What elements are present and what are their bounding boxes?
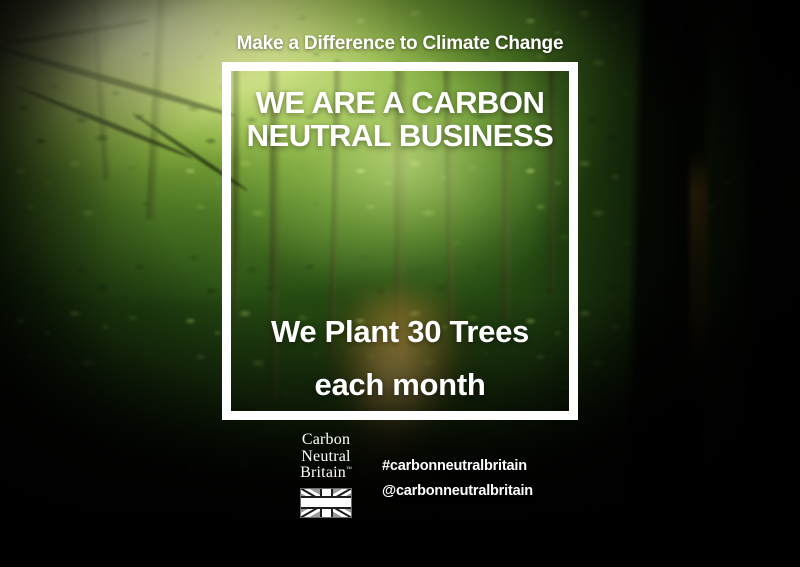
headline-line-1: WE ARE A CARBON xyxy=(222,86,578,119)
logo-word-carbon: Carbon xyxy=(288,432,364,449)
pledge-line-2: each month xyxy=(222,358,578,411)
logo-word-britain: Britain xyxy=(300,464,346,481)
poster: Make a Difference to Climate Change WE A… xyxy=(0,0,800,567)
tagline: Make a Difference to Climate Change xyxy=(0,33,800,55)
social-handles: #carbonneutralbritain @carbonneutralbrit… xyxy=(382,432,533,504)
headline: WE ARE A CARBON NEUTRAL BUSINESS xyxy=(222,86,578,153)
headline-line-2: NEUTRAL BUSINESS xyxy=(222,119,578,152)
footer: Carbon Neutral Britain™ #carbonneutralbr… xyxy=(222,432,578,518)
union-jack-flag-icon xyxy=(300,488,352,518)
hashtag-text: #carbonneutralbritain xyxy=(382,454,533,479)
flag-cross-horizontal xyxy=(301,496,351,509)
trademark-symbol: ™ xyxy=(346,467,352,473)
logo-word-neutral: Neutral xyxy=(288,449,364,466)
logo-wordmark: Carbon Neutral Britain™ xyxy=(288,432,364,482)
carbon-neutral-britain-logo: Carbon Neutral Britain™ xyxy=(222,432,364,518)
pledge-line-1: We Plant 30 Trees xyxy=(222,305,578,358)
poster-overlay: Make a Difference to Climate Change WE A… xyxy=(0,0,800,567)
logo-word-britain-row: Britain™ xyxy=(288,465,364,482)
social-handle-text: @carbonneutralbritain xyxy=(382,479,533,504)
pledge-text: We Plant 30 Trees each month xyxy=(222,305,578,412)
